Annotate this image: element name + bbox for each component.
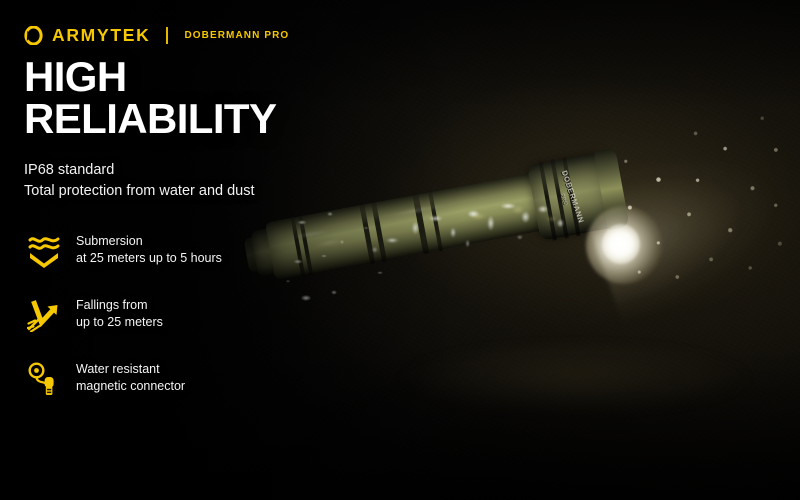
subheading-line-1: IP68 standard (24, 160, 255, 181)
feature-line-1: Submersion (76, 233, 222, 250)
feature-line-1: Water resistant (76, 361, 185, 378)
feature-line-2: magnetic connector (76, 378, 185, 395)
feature-text: Water resistant magnetic connector (76, 360, 185, 395)
feature-line-2: at 25 meters up to 5 hours (76, 250, 222, 267)
feature-item-magnetic-connector: Water resistant magnetic connector (26, 360, 222, 398)
banner-content: ARMYTEK DOBERMANN PRO HIGH RELIABILITY I… (0, 0, 800, 500)
feature-list: Submersion at 25 meters up to 5 hours (26, 232, 222, 398)
page-title: HIGH RELIABILITY (24, 56, 276, 139)
headline-line-2: RELIABILITY (24, 98, 276, 140)
headline-line-1: HIGH (24, 53, 127, 100)
brand-divider (166, 27, 168, 44)
feature-text: Submersion at 25 meters up to 5 hours (76, 232, 222, 267)
armytek-ring-icon (24, 26, 43, 45)
product-banner: DOBERMANN PRO ARMYTEK DOBERMANN PRO (0, 0, 800, 500)
brand-name: ARMYTEK (52, 27, 150, 45)
subheading-line-2: Total protection from water and dust (24, 181, 255, 202)
magnetic-connector-icon (26, 360, 62, 398)
feature-item-fallings: Fallings from up to 25 meters (26, 296, 222, 334)
brand-bar: ARMYTEK DOBERMANN PRO (24, 26, 289, 45)
feature-item-submersion: Submersion at 25 meters up to 5 hours (26, 232, 222, 270)
feature-line-1: Fallings from (76, 297, 163, 314)
model-name: DOBERMANN PRO (184, 31, 289, 41)
submersion-waves-icon (26, 232, 62, 270)
feature-text: Fallings from up to 25 meters (76, 296, 163, 331)
feature-line-2: up to 25 meters (76, 314, 163, 331)
brand-logo[interactable]: ARMYTEK (24, 26, 150, 45)
subheading: IP68 standard Total protection from wate… (24, 160, 255, 201)
drop-impact-arrow-icon (26, 296, 62, 334)
